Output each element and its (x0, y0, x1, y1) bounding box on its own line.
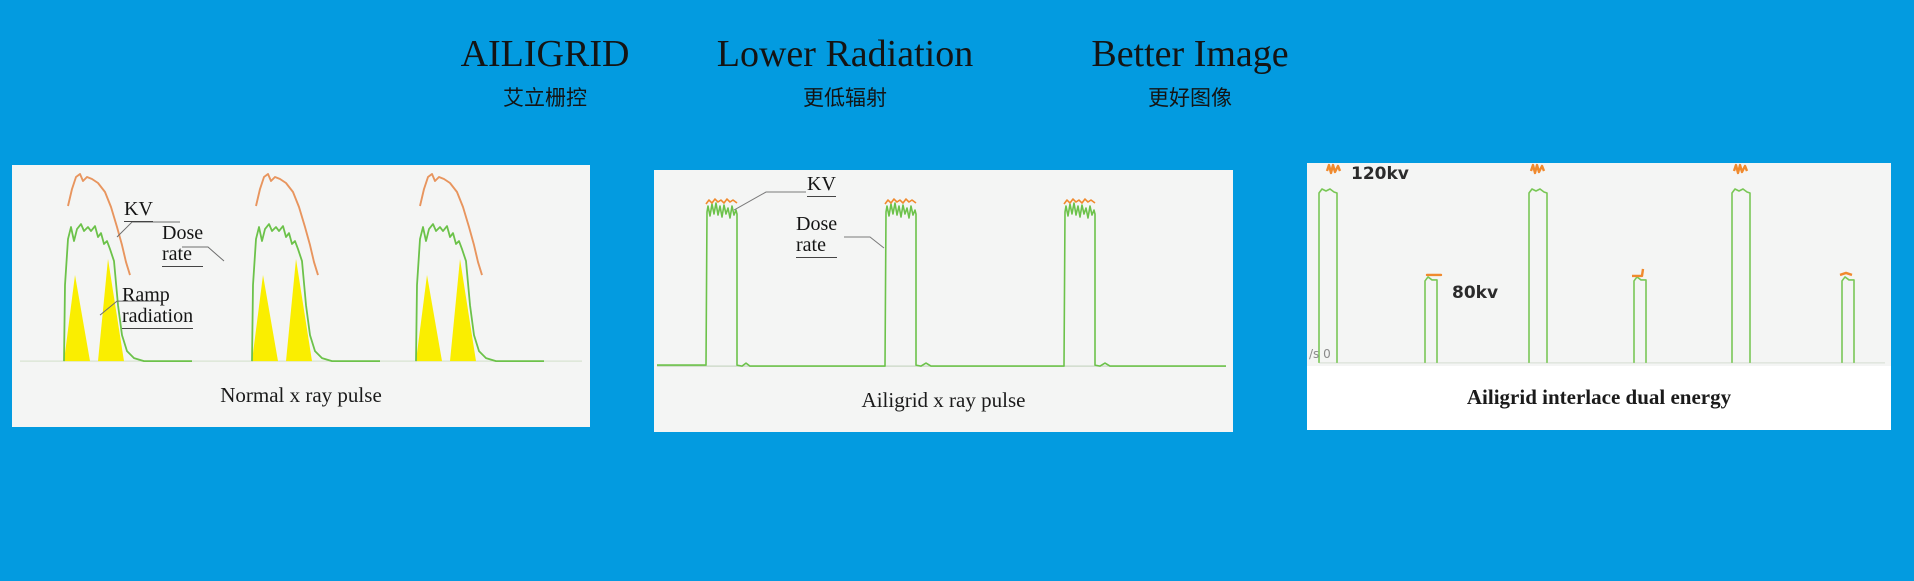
header-title-cn-0: 艾立栅控 (430, 84, 660, 112)
dose-rate-annotation: Dose rate (796, 214, 837, 258)
kv-label-80: 80kv (1452, 283, 1498, 303)
header-title-en-1: Lower Radiation (660, 32, 1030, 76)
kv-annotation: KV (124, 199, 153, 222)
pulse-120kv-2 (1529, 189, 1547, 363)
marker-80kv-3-icon (1840, 273, 1852, 275)
kv-annotation: KV (807, 174, 836, 197)
panel-ailigrid-x-ray-pulse: KV Dose rate Ailigrid x ray pulse (654, 170, 1233, 432)
ramp-fill-2b (286, 259, 312, 361)
pulse-120kv-1 (1319, 189, 1337, 363)
header-group-lower-radiation: Lower Radiation 更低辐射 (660, 32, 1030, 112)
header-title-en-2: Better Image (1040, 32, 1340, 76)
chart-normal-x-ray-pulse (12, 165, 590, 364)
kv-label-120: 120kv (1351, 164, 1409, 184)
dose-rate-pulse-1 (657, 203, 774, 366)
panel-caption-ailigrid: Ailigrid x ray pulse (654, 369, 1233, 432)
chart-svg-normal (12, 165, 590, 364)
pulse-120kv-3 (1732, 189, 1750, 363)
ramp-fill-1b (98, 259, 124, 361)
panel-normal-x-ray-pulse: KV Dose rate Ramp radiation Normal x ray… (12, 165, 590, 427)
marker-120kv-1-icon (1327, 165, 1340, 173)
header-group-better-image: Better Image 更好图像 (1040, 32, 1340, 112)
axis-origin-label: /s 0 (1309, 347, 1331, 361)
leader-line-kv (734, 192, 806, 210)
panel-ailigrid-interlace-dual-energy: 120kv 80kv /s 0 Ailigrid interlace dual … (1307, 163, 1891, 430)
kv-trace-2 (256, 174, 318, 275)
pulse-80kv-3 (1842, 277, 1854, 363)
marker-120kv-2-icon (1531, 165, 1544, 173)
pulse-80kv-1 (1425, 277, 1437, 363)
chart-ailigrid-x-ray-pulse (654, 170, 1233, 369)
pulse-80kv-2 (1634, 277, 1646, 363)
chart-svg-ailigrid (654, 170, 1233, 369)
kv-cap-1 (706, 199, 737, 204)
kv-cap-3 (1064, 199, 1095, 204)
marker-80kv-2-icon (1632, 269, 1643, 276)
leader-line-dose-rate (844, 237, 884, 248)
header-title-cn-1: 更低辐射 (660, 84, 1030, 112)
chart-ailigrid-interlace-dual-energy (1307, 163, 1891, 366)
ramp-radiation-annotation: Ramp radiation (122, 285, 193, 329)
marker-120kv-3-icon (1734, 165, 1747, 173)
panel-caption-dual-energy: Ailigrid interlace dual energy (1307, 366, 1891, 430)
ramp-fill-3 (416, 275, 442, 361)
header-title-cn-2: 更好图像 (1040, 84, 1340, 112)
dose-rate-pulse-3 (954, 203, 1226, 366)
panel-caption-normal: Normal x ray pulse (12, 364, 590, 427)
chart-svg-dual-energy (1307, 163, 1891, 366)
header-title-en-0: AILIGRID (430, 32, 660, 76)
dose-rate-annotation: Dose rate (162, 223, 203, 267)
kv-trace-3 (420, 174, 482, 275)
header-banner: AILIGRID 艾立栅控 Lower Radiation 更低辐射 Bette… (0, 0, 1914, 160)
header-group-ailigrid: AILIGRID 艾立栅控 (430, 32, 660, 112)
kv-trace-1 (68, 174, 130, 275)
kv-cap-2 (885, 199, 916, 204)
ramp-fill-2 (252, 275, 278, 361)
ramp-fill-1 (64, 275, 90, 361)
ramp-fill-3b (450, 259, 476, 361)
